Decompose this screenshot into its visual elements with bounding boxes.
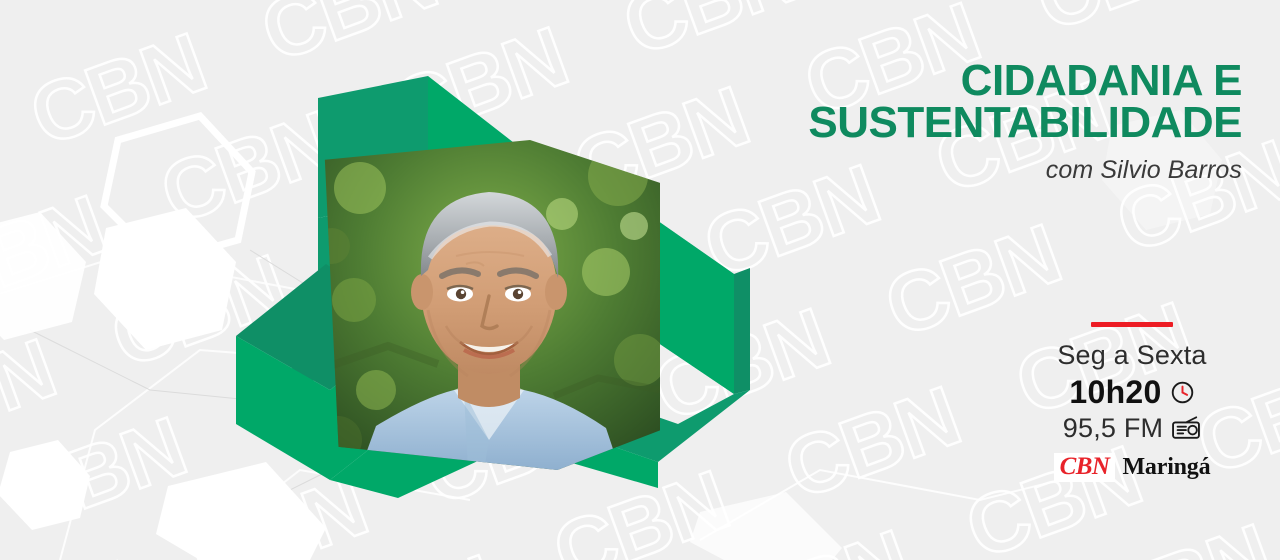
hexagon-solid bbox=[94, 208, 236, 350]
watermark-cbn: CBN bbox=[0, 182, 114, 321]
ear-right bbox=[545, 274, 567, 310]
watermark-cbn: CBN bbox=[0, 547, 145, 560]
program-host-subtitle: com Silvio Barros bbox=[808, 156, 1242, 185]
ear-left bbox=[411, 274, 433, 310]
broadcast-time-row: 10h20 bbox=[1022, 374, 1242, 411]
watermark-cbn: CBN bbox=[20, 20, 214, 159]
portrait-illustration bbox=[318, 140, 660, 470]
page-title-line2: SUSTENTABILIDADE bbox=[808, 102, 1242, 144]
radio-icon bbox=[1171, 415, 1201, 441]
station-city: Maringá bbox=[1122, 454, 1210, 481]
watermark-cbn: CBN bbox=[251, 0, 445, 75]
radio-program-banner: CBN CBN CBN CBN CBN CBN CBN CBN CBN CBN … bbox=[0, 0, 1280, 560]
watermark-cbn: CBN bbox=[613, 0, 807, 69]
station-logo: CBN Maringá bbox=[1022, 453, 1242, 482]
hexagon-solid bbox=[690, 492, 842, 560]
watermark-cbn: CBN bbox=[775, 373, 969, 512]
host-portrait bbox=[318, 140, 660, 470]
schedule-info-block: Seg a Sexta 10h20 95,5 FM CBN Maringá bbox=[1022, 322, 1242, 482]
broadcast-days: Seg a Sexta bbox=[1022, 341, 1242, 371]
watermark-cbn: CBN bbox=[0, 326, 64, 465]
page-title-line1: CIDADANIA E bbox=[808, 60, 1242, 102]
broadcast-frequency: 95,5 FM bbox=[1063, 413, 1163, 444]
watermark-cbn: CBN bbox=[1026, 0, 1220, 44]
clock-icon bbox=[1170, 380, 1195, 405]
hexagon-solid bbox=[0, 212, 86, 340]
cbn-brand-mark: CBN bbox=[1054, 453, 1116, 482]
broadcast-frequency-row: 95,5 FM bbox=[1022, 413, 1242, 444]
watermark-cbn: CBN bbox=[0, 404, 194, 543]
watermark-cbn: CBN bbox=[725, 517, 919, 560]
watermark-cbn: CBN bbox=[312, 541, 506, 560]
hexagon-solid bbox=[0, 440, 90, 530]
red-divider bbox=[1091, 322, 1173, 327]
broadcast-time: 10h20 bbox=[1069, 374, 1161, 411]
program-title-block: CIDADANIA E SUSTENTABILIDADE com Silvio … bbox=[808, 60, 1242, 185]
watermark-cbn: CBN bbox=[1086, 511, 1280, 560]
